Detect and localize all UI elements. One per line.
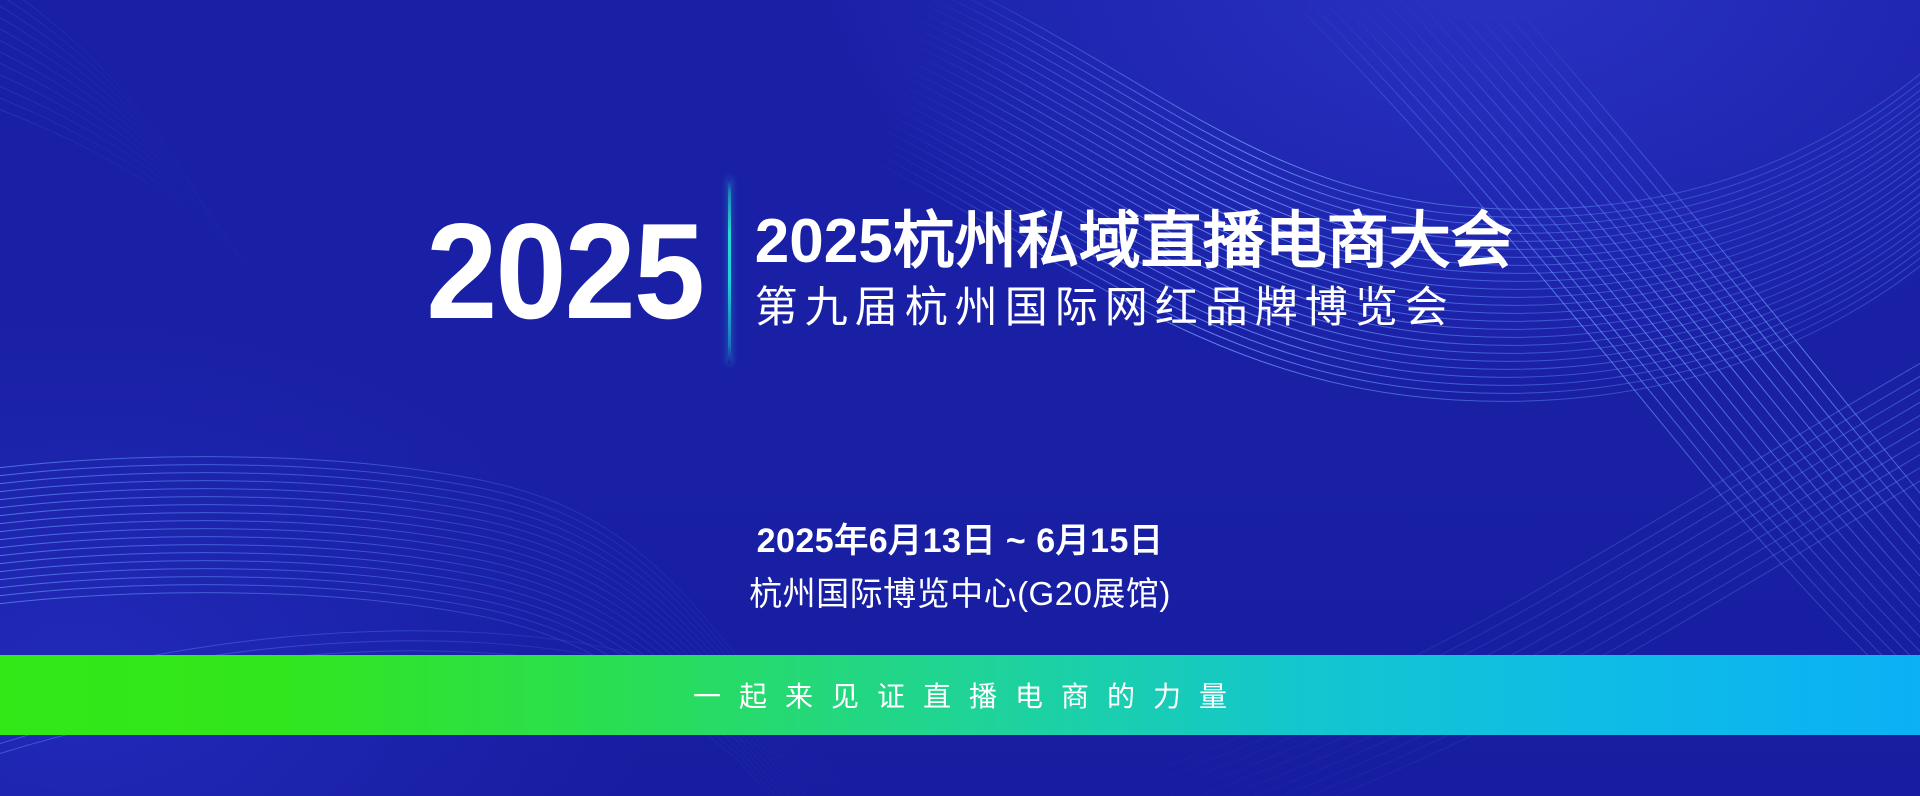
slogan-bar: 一起来见证直播电商的力量	[0, 655, 1920, 735]
event-banner: 2025 2025杭州私域直播电商大会 第九届杭州国际网红品牌博览会 2025年…	[0, 0, 1920, 796]
event-details: 2025年6月13日 ~ 6月15日 杭州国际博览中心(G20展馆)	[0, 520, 1920, 615]
year-badge: 2025	[426, 203, 727, 339]
slogan-text: 一起来见证直播电商的力量	[675, 675, 1245, 715]
vertical-divider	[728, 178, 731, 364]
event-venue: 杭州国际博览中心(G20展馆)	[0, 573, 1920, 616]
page-subtitle: 第九届杭州国际网红品牌博览会	[755, 283, 1513, 335]
banner-content: 2025 2025杭州私域直播电商大会 第九届杭州国际网红品牌博览会 2025年…	[0, 0, 1920, 796]
title-block: 2025 2025杭州私域直播电商大会 第九届杭州国际网红品牌博览会	[0, 178, 1920, 364]
page-title: 2025杭州私域直播电商大会	[755, 207, 1513, 276]
event-date: 2025年6月13日 ~ 6月15日	[0, 520, 1920, 563]
